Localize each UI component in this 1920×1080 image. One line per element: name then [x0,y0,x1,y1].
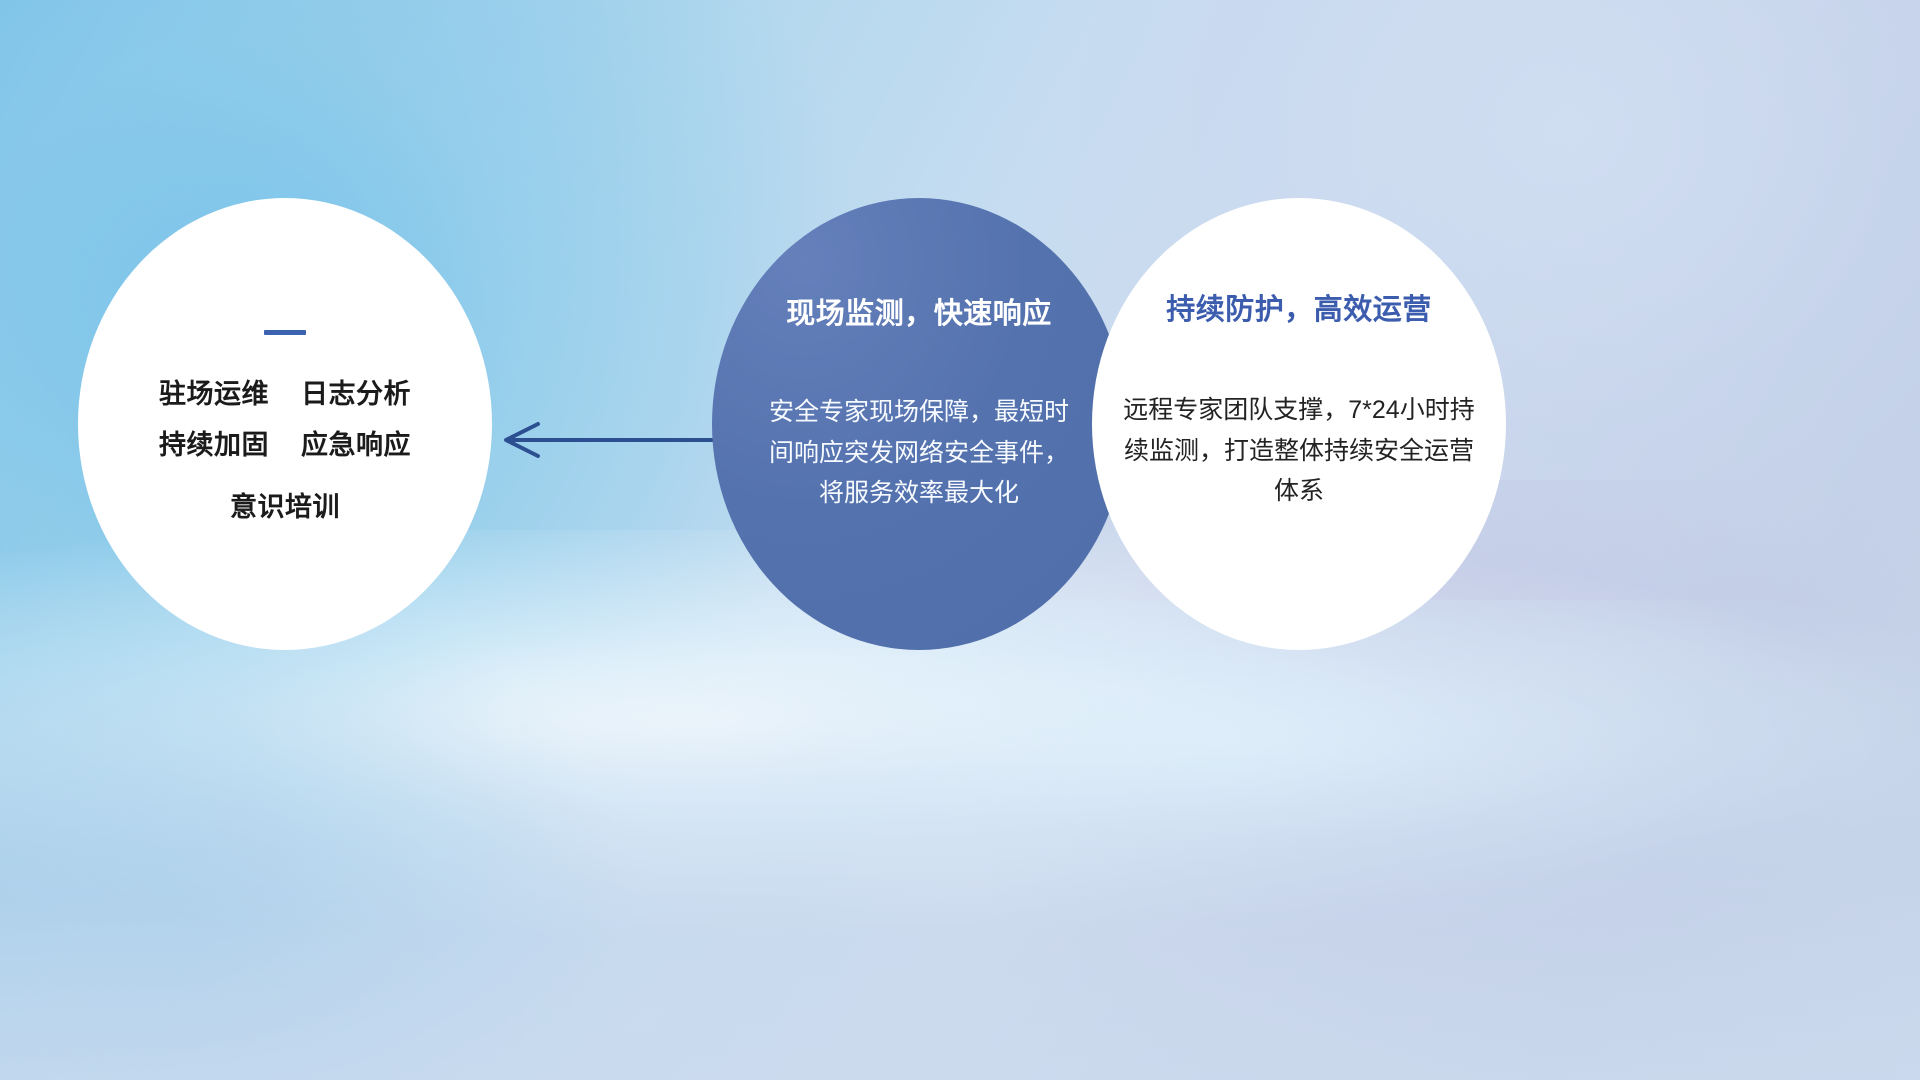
onsite-monitoring-content: 现场监测，快速响应 安全专家现场保障，最短时间响应突发网络安全事件，将服务效率最… [712,198,1126,650]
continuous-protection-body: 远程专家团队支撑，7*24小时持续监测，打造整体持续安全运营体系 [1123,390,1475,512]
onsite-monitoring-body: 安全专家现场保障，最短时间响应突发网络安全事件，将服务效率最大化 [769,392,1069,514]
capability-circle[interactable]: 驻场运维 日志分析 持续加固 应急响应 意识培训 [78,198,492,650]
capability-circle-content: 驻场运维 日志分析 持续加固 应急响应 意识培训 [78,198,492,650]
continuous-protection-title: 持续防护，高效运营 [1166,286,1432,328]
capability-line-2: 持续加固 应急响应 [159,430,411,462]
accent-dash-icon [264,330,306,335]
background-bottom-fade [0,660,1920,1080]
onsite-monitoring-title: 现场监测，快速响应 [786,290,1052,332]
capability-line-1: 驻场运维 日志分析 [159,379,411,411]
continuous-protection-content: 持续防护，高效运营 远程专家团队支撑，7*24小时持续监测，打造整体持续安全运营… [1092,198,1506,650]
slide-canvas: 驻场运维 日志分析 持续加固 应急响应 意识培训 现场监测，快速响应 安全专家现… [0,0,1920,1080]
onsite-monitoring-circle[interactable]: 现场监测，快速响应 安全专家现场保障，最短时间响应突发网络安全事件，将服务效率最… [712,198,1126,650]
continuous-protection-circle[interactable]: 持续防护，高效运营 远程专家团队支撑，7*24小时持续监测，打造整体持续安全运营… [1092,198,1506,650]
capability-line-3: 意识培训 [230,492,340,524]
